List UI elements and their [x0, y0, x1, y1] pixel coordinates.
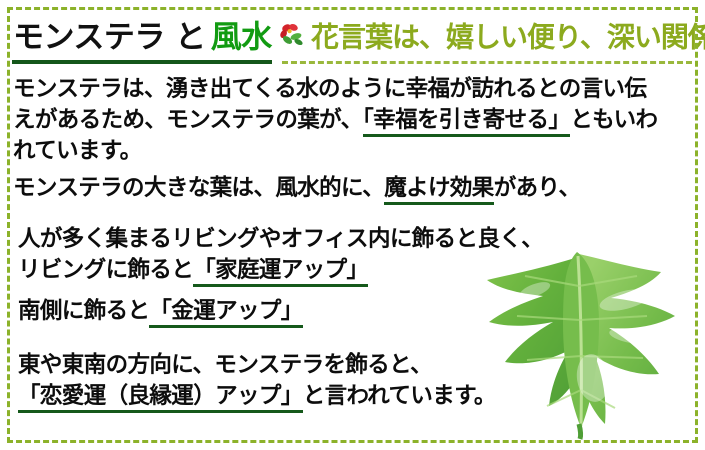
text-line: 人が多く集まるリビングやオフィス内に飾ると良く、: [18, 224, 543, 255]
highlighted-phrase: 「恋愛運（良縁運）アップ」: [18, 383, 303, 413]
paragraph-1: モンステラは、湧き出てくる水のように幸福が訪れるとの言い伝 えがあるため、モンス…: [13, 74, 657, 167]
text-line: 「恋愛運（良縁運）アップ」と言われています。: [18, 381, 496, 412]
text-line: 東や東南の方向に、モンステラを飾ると、: [18, 350, 496, 381]
highlighted-phrase: 「金運アップ」: [149, 298, 302, 328]
text-line: リビングに飾ると「家庭運アップ」: [18, 255, 543, 286]
text-line: れています。: [13, 136, 657, 167]
paragraph-2: モンステラの大きな葉は、風水的に、魔よけ効果があり、: [13, 173, 580, 204]
title-underline-solid: [12, 60, 272, 64]
infographic-card: モンステラ と 風水 花言葉は、嬉しい便り、深い関係 モンステラは、湧き出てくる…: [0, 0, 705, 450]
highlighted-phrase: 「幸福を引き寄せる」: [363, 107, 571, 137]
text-line: 南側に飾ると「金運アップ」: [18, 296, 303, 327]
title-segment-green: 風水: [211, 20, 272, 56]
flower-icon: [279, 22, 305, 46]
highlighted-phrase: 「家庭運アップ」: [193, 257, 368, 287]
highlighted-phrase: 魔よけ効果: [384, 175, 494, 205]
title-segment-olive: 花言葉は、嬉しい便り、深い関係: [311, 21, 705, 54]
title-rule-dashed: [282, 61, 692, 64]
paragraph-4: 南側に飾ると「金運アップ」: [18, 296, 303, 327]
paragraph-3: 人が多く集まるリビングやオフィス内に飾ると良く、 リビングに飾ると「家庭運アップ…: [18, 224, 543, 286]
page-title: モンステラ と 風水 花言葉は、嬉しい便り、深い関係: [13, 19, 693, 55]
text-line: えがあるため、モンステラの葉が、「幸福を引き寄せる」ともいわ: [13, 105, 657, 136]
text-line: モンステラの大きな葉は、風水的に、魔よけ効果があり、: [13, 173, 580, 204]
paragraph-5: 東や東南の方向に、モンステラを飾ると、 「恋愛運（良縁運）アップ」と言われていま…: [18, 350, 496, 412]
title-segment-black: モンステラ と: [13, 20, 206, 56]
text-line: モンステラは、湧き出てくる水のように幸福が訪れるとの言い伝: [13, 74, 657, 105]
